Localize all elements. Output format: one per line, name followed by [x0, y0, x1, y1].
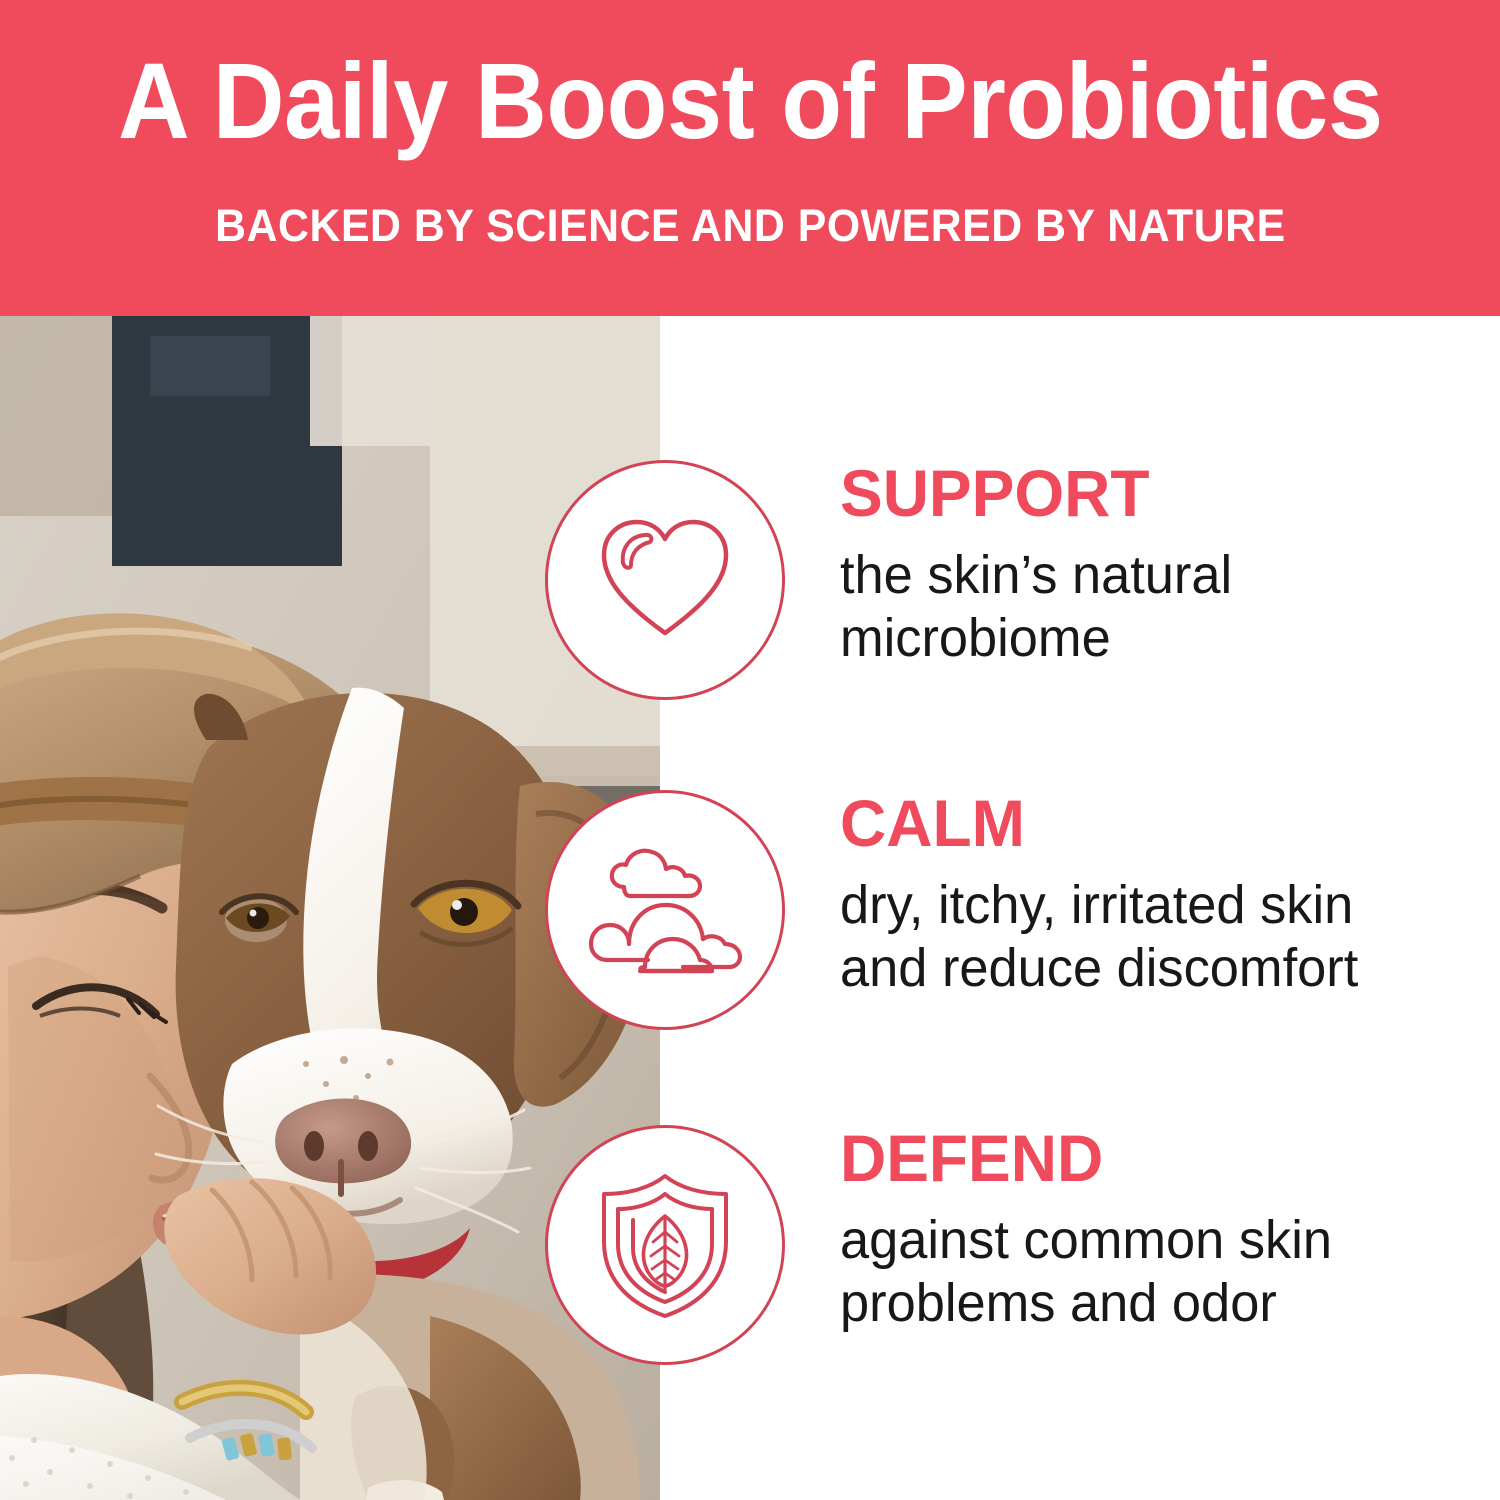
benefit-body: against common skin problems and odor: [840, 1191, 1471, 1334]
benefit-body: the skin’s natural microbiome: [840, 526, 1471, 669]
benefit-body-line: against common skin: [840, 1209, 1471, 1272]
shield-leaf-icon: [545, 1125, 785, 1365]
heart-icon: [545, 460, 785, 700]
benefit-item-support: SUPPORT the skin’s natural microbiome: [660, 460, 1500, 760]
benefit-text-support: SUPPORT the skin’s natural microbiome: [840, 460, 1490, 669]
page-subtitle: BACKED BY SCIENCE AND POWERED BY NATURE: [215, 156, 1286, 252]
benefit-body-line: microbiome: [840, 607, 1471, 670]
benefit-body: dry, itchy, irritated skin and reduce di…: [840, 856, 1471, 999]
benefit-heading: CALM: [840, 790, 1471, 856]
benefit-text-defend: DEFEND against common skin problems and …: [840, 1125, 1490, 1334]
page-title: A Daily Boost of Probiotics: [118, 0, 1383, 156]
infographic-page: A Daily Boost of Probiotics BACKED BY SC…: [0, 0, 1500, 1500]
clouds-icon: [545, 790, 785, 1030]
benefit-body-line: the skin’s natural: [840, 544, 1471, 607]
benefits-list: SUPPORT the skin’s natural microbiome: [660, 316, 1500, 1500]
benefit-heading: DEFEND: [840, 1125, 1471, 1191]
benefit-body-line: dry, itchy, irritated skin: [840, 874, 1471, 937]
benefit-heading: SUPPORT: [840, 460, 1471, 526]
benefit-body-line: and reduce discomfort: [840, 937, 1471, 1000]
benefit-item-calm: CALM dry, itchy, irritated skin and redu…: [660, 790, 1500, 1090]
benefit-body-line: problems and odor: [840, 1272, 1471, 1335]
header-banner: A Daily Boost of Probiotics BACKED BY SC…: [0, 0, 1500, 316]
benefit-item-defend: DEFEND against common skin problems and …: [660, 1125, 1500, 1425]
benefit-text-calm: CALM dry, itchy, irritated skin and redu…: [840, 790, 1490, 999]
